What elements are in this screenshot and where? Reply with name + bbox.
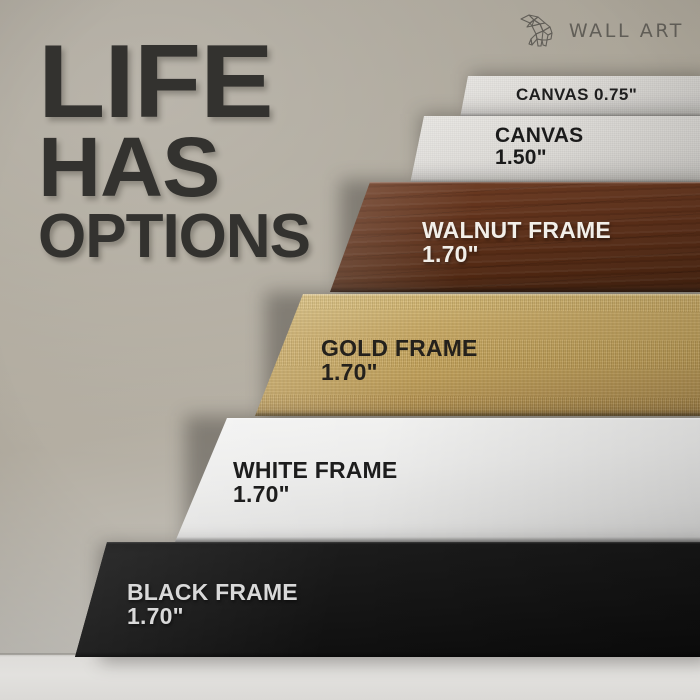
headline-line-3: OPTIONS xyxy=(38,210,310,263)
product-slab-canvas-075[interactable]: CANVAS 0.75" xyxy=(460,76,700,118)
product-slab-white-frame[interactable]: WHITE FRAME 1.70" xyxy=(175,418,700,542)
white-frame-label: WHITE FRAME 1.70" xyxy=(233,458,397,507)
product-scene: CANVAS 0.75" CANVAS 1.50" WALNUT FRAME 1… xyxy=(0,0,700,700)
canvas-150-label: CANVAS 1.50" xyxy=(495,125,583,170)
brand-logo[interactable]: WALL ART xyxy=(518,14,684,48)
canvas-075-label: CANVAS 0.75" xyxy=(516,86,637,104)
headline-line-1: LIFE xyxy=(38,38,326,127)
page-title: LIFE HAS OPTIONS xyxy=(38,38,310,263)
gold-frame-label: GOLD FRAME 1.70" xyxy=(321,336,478,385)
product-slab-walnut-frame[interactable]: WALNUT FRAME 1.70" xyxy=(330,182,700,292)
white-bottom-edge xyxy=(175,537,700,542)
product-slab-gold-frame[interactable]: GOLD FRAME 1.70" xyxy=(255,294,700,416)
product-slab-canvas-150[interactable]: CANVAS 1.50" xyxy=(410,116,700,184)
walnut-frame-label: WALNUT FRAME 1.70" xyxy=(422,218,611,267)
product-slab-black-frame[interactable]: BLACK FRAME 1.70" xyxy=(75,542,700,657)
headline-line-2: HAS xyxy=(38,131,321,203)
black-bottom-edge xyxy=(75,652,700,657)
black-top-edge xyxy=(75,542,700,544)
white-top-edge xyxy=(175,418,700,420)
walnut-top-edge xyxy=(330,182,700,184)
gold-top-edge xyxy=(255,294,700,296)
origami-goat-icon xyxy=(518,14,560,48)
black-frame-label: BLACK FRAME 1.70" xyxy=(127,580,298,629)
brand-name: WALL ART xyxy=(569,20,684,42)
